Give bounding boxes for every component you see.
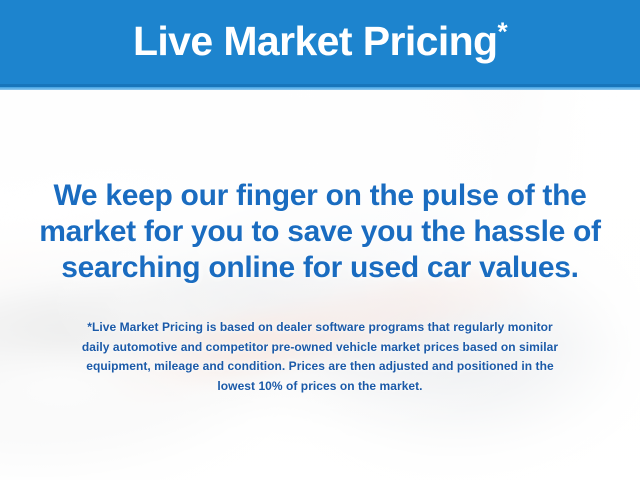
disclaimer-line-2: daily automotive and competitor pre-owne… [20,338,620,358]
header-banner: Live Market Pricing* [0,0,640,87]
disclaimer-line-4: lowest 10% of prices on the market. [20,377,620,397]
headline-line-3: searching online for used car values. [0,250,640,286]
headline-line-2: market for you to save you the hassle of [0,214,640,250]
live-market-pricing-banner: Live Market Pricing* We keep our finger … [0,0,640,480]
banner-title: Live Market Pricing* [133,21,507,66]
headline-line-1: We keep our finger on the pulse of the [0,178,640,214]
banner-title-asterisk: * [498,16,508,46]
disclaimer-line-1: *Live Market Pricing is based on dealer … [20,318,620,338]
disclaimer-block: *Live Market Pricing is based on dealer … [20,318,620,396]
headline-block: We keep our finger on the pulse of the m… [0,178,640,286]
banner-underline [0,87,640,90]
disclaimer-line-3: equipment, mileage and condition. Prices… [20,357,620,377]
banner-title-text: Live Market Pricing [133,18,498,64]
